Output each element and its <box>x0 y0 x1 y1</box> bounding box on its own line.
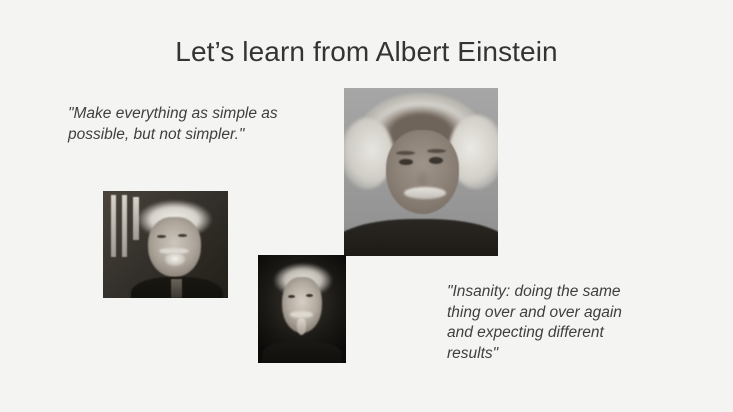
laughing-face <box>148 217 201 277</box>
laughing-backdrop-bar-1 <box>111 195 117 257</box>
page-title: Let’s learn from Albert Einstein <box>0 36 733 68</box>
einstein-portrait-photo <box>344 88 498 256</box>
laughing-backdrop-bar-2 <box>122 195 128 257</box>
tongue-mustache <box>290 311 313 317</box>
portrait-image-content <box>344 88 498 256</box>
tongue-image-content <box>258 255 346 363</box>
laughing-image-content <box>103 191 228 298</box>
portrait-mustache <box>404 187 446 199</box>
quote-simplicity: "Make everything as simple as possible, … <box>68 104 313 145</box>
portrait-sweater <box>344 219 498 256</box>
portrait-eye-right <box>429 157 443 164</box>
einstein-tongue-photo <box>258 255 346 363</box>
laughing-tie <box>171 279 182 298</box>
laughing-eye-right <box>178 234 187 237</box>
laughing-eye-left <box>157 235 166 238</box>
laughing-mouth <box>163 253 187 267</box>
slide-canvas: Let’s learn from Albert Einstein "Make e… <box>0 0 733 412</box>
tongue-eye-right <box>306 294 313 297</box>
einstein-laughing-photo <box>103 191 228 298</box>
tongue-coat <box>262 341 343 363</box>
quote-insanity: "Insanity: doing the same thing over and… <box>447 282 652 364</box>
portrait-eyebrow-left <box>396 151 414 155</box>
